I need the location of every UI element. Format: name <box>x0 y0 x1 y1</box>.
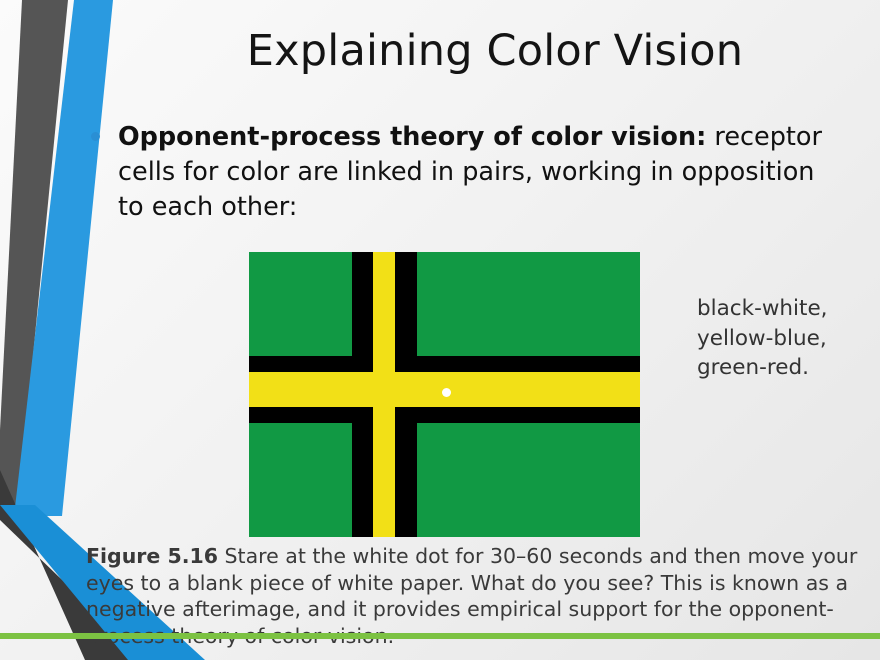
fixation-dot-icon <box>442 388 451 397</box>
bullet-dot-icon <box>91 132 100 141</box>
figure-caption-label: Figure 5.16 <box>86 544 218 568</box>
flag-vertical-yellow-band <box>373 252 395 537</box>
bullet-block: Opponent-process theory of color vision:… <box>88 120 848 225</box>
page-title: Explaining Color Vision <box>150 28 840 75</box>
bottom-green-rule <box>0 633 880 639</box>
opponent-pairs-text: black-white, yellow-blue, green-red. <box>697 294 847 383</box>
gray-accent-bar-upper <box>0 0 68 508</box>
bullet-lead-bold: Opponent-process theory of color vision: <box>118 122 706 152</box>
afterimage-flag-image <box>249 252 640 537</box>
slide-canvas: Explaining Color Vision Opponent-process… <box>0 0 880 660</box>
blue-accent-bar-upper <box>14 0 113 516</box>
bullet-text: Opponent-process theory of color vision:… <box>118 120 848 225</box>
